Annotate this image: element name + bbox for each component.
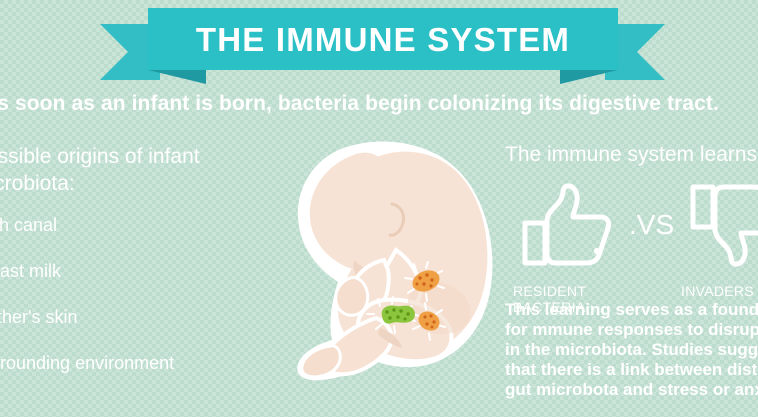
subtitle-text: As soon as an infant is born, bacteria b… xyxy=(0,92,758,116)
invaders-block: INVADERS xyxy=(673,181,758,300)
thumbs-down-icon xyxy=(685,181,758,273)
thumbs-up-icon xyxy=(517,181,613,273)
page-title: THE IMMUNE SYSTEM xyxy=(196,23,570,56)
ribbon-body: THE IMMUNE SYSTEM xyxy=(148,8,618,70)
invaders-label: INVADERS xyxy=(673,284,758,300)
resident-bacteria-block: RESIDENT BACTERIA xyxy=(505,181,625,315)
vs-label: .VS xyxy=(629,209,674,241)
immune-learning-heading: The immune system learns xyxy=(505,144,758,165)
immune-learning-paragraph: This learning serves as a foundation for… xyxy=(505,300,758,400)
title-banner: THE IMMUNE SYSTEM xyxy=(100,8,665,80)
list-item: Surrounding environment xyxy=(0,354,272,372)
immune-learning-section: The immune system learns RESIDENT BACTER… xyxy=(505,144,758,321)
origins-list: Birth canal Breast milk Mother's skin Su… xyxy=(0,216,272,372)
origins-section: Possible origins of infant microbiota: B… xyxy=(0,144,272,400)
thumbs-up-dot xyxy=(594,248,600,254)
infant-illustration xyxy=(288,132,504,382)
origins-heading: Possible origins of infant microbiota: xyxy=(0,144,272,198)
list-item: Mother's skin xyxy=(0,308,272,326)
infant-body-group xyxy=(297,141,492,380)
list-item: Birth canal xyxy=(0,216,272,234)
list-item: Breast milk xyxy=(0,262,272,280)
